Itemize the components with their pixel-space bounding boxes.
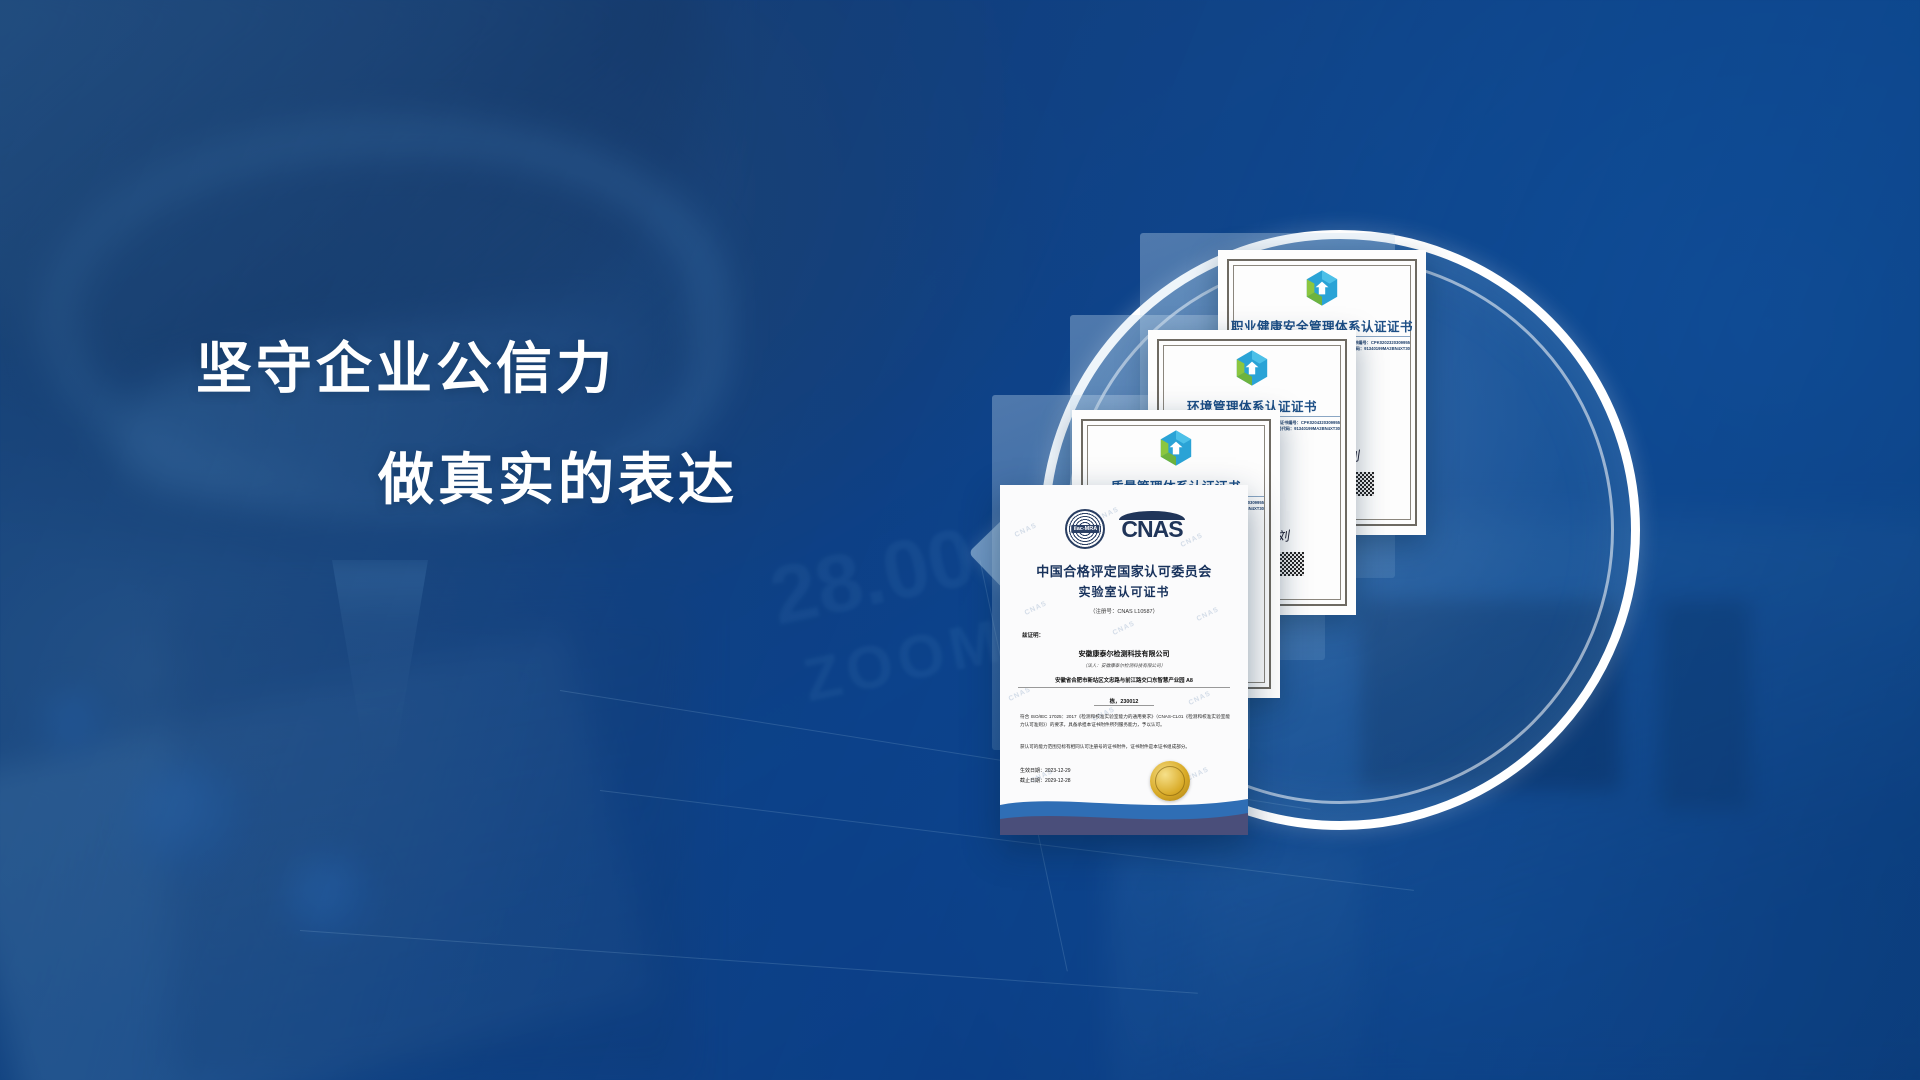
cnas-logo-icon: CNAS	[1121, 518, 1182, 541]
certification-body-logo-icon	[1232, 348, 1272, 388]
cnas-title: 中国合格评定国家认可委员会	[1000, 561, 1248, 580]
cnas-attest-label: 兹证明：	[1022, 631, 1044, 639]
watermark-cnas: CNAS	[1188, 690, 1212, 707]
cnas-effective-date: 生效日期：2023-12-29	[1020, 767, 1071, 777]
watermark-cnas: CNAS	[1112, 620, 1136, 637]
headline-line-1: 坚守企业公信力	[196, 337, 616, 400]
cnas-footer-wave	[1000, 789, 1248, 835]
cnas-paragraph-1: 符合 ISO/IEC 17025：2017《检测和校准实验室能力的通用要求》（C…	[1020, 713, 1230, 730]
certificate-cnas-laboratory: CNAS CNAS CNAS CNAS CNAS CNAS CNAS CNAS …	[1000, 485, 1248, 835]
cnas-company-name: 安徽康泰尔检测科技有限公司	[1000, 649, 1248, 659]
certificate-stack: 职业健康安全管理体系认证证书 证书编号：CPK0202320309955 统一社…	[1000, 215, 1680, 875]
hero-headline: 坚守企业公信力 做真实的表达	[196, 340, 738, 510]
ilac-label: ilac-MRA	[1072, 525, 1100, 533]
cnas-paragraph-2: 获认可的能力范围见标有相同认可注册号的证书附件，证书附件是本证书组成部分。	[1020, 743, 1230, 751]
ilac-mra-logo-icon: ilac-MRA	[1065, 509, 1105, 549]
certification-body-logo-icon	[1156, 428, 1196, 468]
cnas-registration-number: （注册号：CNAS L10587）	[1000, 607, 1248, 615]
cnas-legal-person: （法人：安徽康泰尔检测科技有限公司）	[1000, 663, 1248, 669]
cnas-address: 安徽省合肥市新站区文忠路与前江路交口东智慧产业园 A8	[1018, 677, 1230, 688]
cnas-dates: 生效日期：2023-12-29 截止日期：2029-12-28	[1020, 767, 1071, 786]
watermark-cnas: CNAS	[1008, 686, 1032, 703]
credit-value: 91340199MA2BN4XT30	[1294, 426, 1340, 431]
cert-no-label: 证书编号：	[1280, 420, 1301, 425]
credit-value: 91340199MA2BN4XT30	[1364, 346, 1410, 351]
cnas-logo-row: ilac-MRA CNAS	[1000, 509, 1248, 549]
cert-no-value: CPK0202320309955	[1371, 340, 1410, 345]
cnas-subtitle: 实验室认可证书	[1000, 583, 1248, 600]
cert-no-value: CPK0204320309955	[1301, 420, 1340, 425]
hero-banner: 28.00 ZOOM LEVEL 职业健康安全管	[0, 0, 1920, 1080]
certification-body-logo-icon	[1302, 268, 1342, 308]
headline-line-2: 做真实的表达	[378, 451, 738, 510]
qr-code-icon	[1280, 552, 1304, 576]
cnas-address-2: 栋，230012	[1094, 697, 1154, 706]
cnas-expiry-date: 截止日期：2029-12-28	[1020, 777, 1071, 787]
